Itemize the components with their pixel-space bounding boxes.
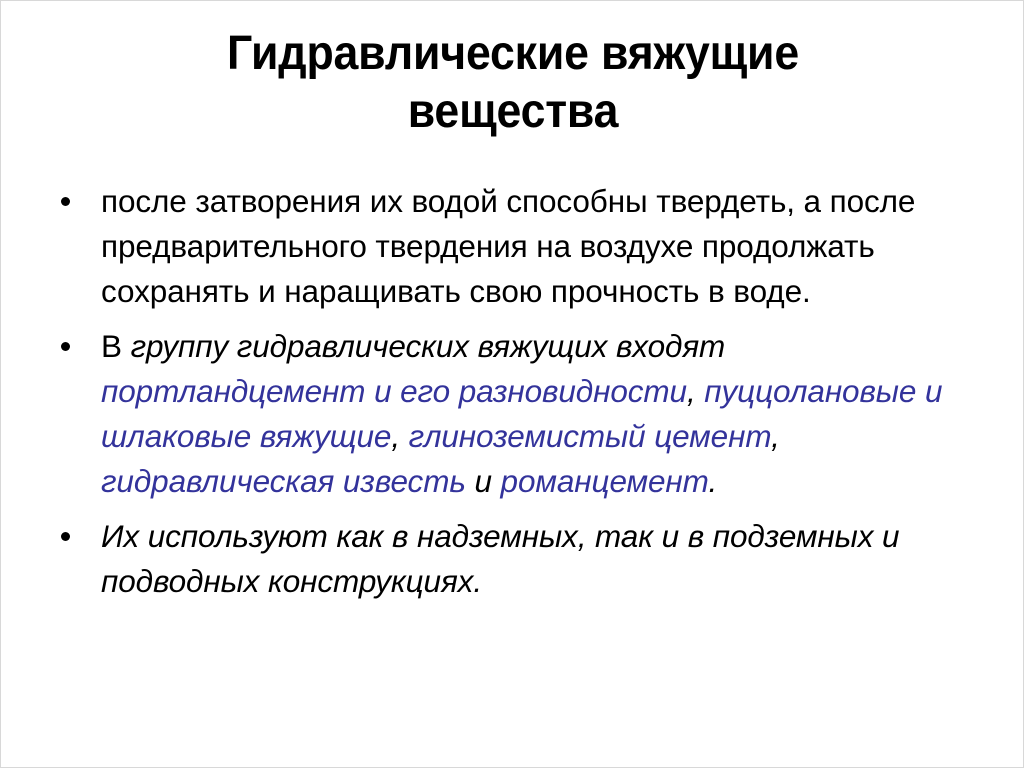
- list-item: после затворения их водой способны тверд…: [49, 179, 969, 314]
- bullet-dot-icon: [61, 342, 70, 351]
- list-item-text: Их используют как в надземных, так и в п…: [101, 514, 969, 604]
- highlighted-term: романцемент: [501, 463, 709, 499]
- highlighted-term: глиноземистый цемент: [409, 418, 771, 454]
- text-run: .: [708, 463, 717, 499]
- text-run: ,: [391, 418, 408, 454]
- bullet-list: после затворения их водой способны тверд…: [49, 179, 969, 610]
- slide-canvas: Гидравлические вяжущиевещества после зат…: [0, 0, 1024, 768]
- highlighted-term: гидравлическая известь: [101, 463, 466, 499]
- highlighted-term: портландцемент и его разновидности: [101, 373, 687, 409]
- text-run: В: [101, 328, 131, 364]
- text-run: и: [466, 463, 501, 499]
- text-run: после затворения их водой способны тверд…: [101, 183, 915, 309]
- text-run: ,: [687, 373, 704, 409]
- text-run: группу гидравлических вяжущих входят: [131, 328, 726, 364]
- page-title-line-1: Гидравлические вяжущие: [93, 25, 934, 83]
- list-item-text: В группу гидравлических вяжущих входят п…: [101, 324, 969, 504]
- list-item-text: после затворения их водой способны тверд…: [101, 179, 969, 314]
- list-item: В группу гидравлических вяжущих входят п…: [49, 324, 969, 504]
- bullet-dot-icon: [61, 197, 70, 206]
- list-item: Их используют как в надземных, так и в п…: [49, 514, 969, 604]
- page-title: Гидравлические вяжущиевещества: [93, 25, 934, 141]
- page-title-line-2: вещества: [93, 83, 934, 141]
- text-run: Их используют как в надземных, так и в п…: [101, 518, 899, 599]
- bullet-dot-icon: [61, 532, 70, 541]
- text-run: ,: [771, 418, 780, 454]
